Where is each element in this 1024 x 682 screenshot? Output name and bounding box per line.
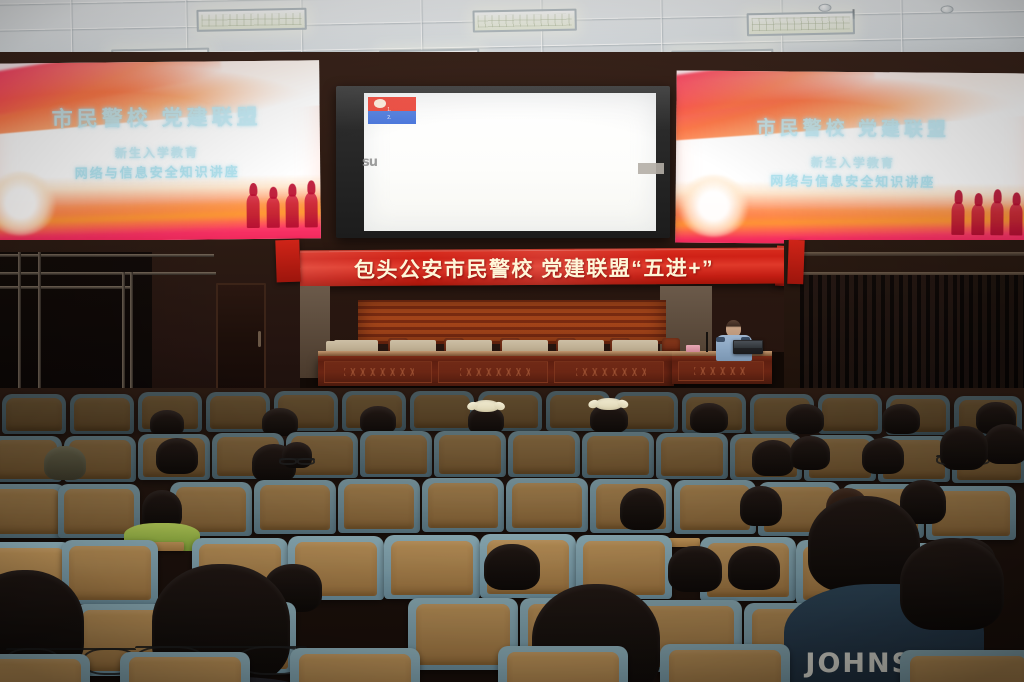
stage-chair-7 [326, 341, 340, 351]
stage-chair-back-6 [662, 338, 680, 351]
wall-banner-right [787, 240, 805, 285]
attendee [150, 410, 184, 436]
seat[interactable] [360, 431, 432, 477]
wall-frame-rail [0, 254, 214, 257]
smoke-detector-icon [818, 4, 831, 12]
hair-bow [595, 398, 622, 410]
led-subtitle-2-right: 网络与信息安全知识讲座 [676, 169, 1024, 191]
seat[interactable] [2, 394, 66, 434]
led-subtitle-2-left: 网络与信息安全知识讲座 [0, 160, 320, 182]
side-door[interactable] [216, 283, 266, 395]
led-officer-silhouette [971, 204, 984, 235]
attendee [142, 490, 182, 530]
stage-chair-6 [612, 340, 658, 351]
seat[interactable] [206, 392, 270, 432]
attendee [752, 440, 794, 476]
seat[interactable] [0, 654, 90, 682]
seat[interactable] [338, 479, 420, 533]
seat[interactable] [900, 650, 1024, 682]
stage-chair-4 [502, 340, 548, 351]
attendee [984, 424, 1024, 464]
sprinkler-icon [853, 9, 855, 19]
led-officer-silhouette [990, 201, 1003, 235]
desk-item [686, 345, 700, 352]
stage-chair-3 [446, 340, 492, 351]
event-banner: 包头公安市民警校 党建联盟“五进+” [282, 247, 786, 286]
attendee [740, 486, 782, 526]
speaker-epaulette-left [716, 337, 725, 342]
seat[interactable] [70, 394, 134, 434]
attendee [156, 438, 198, 474]
attendee [786, 404, 824, 434]
seat[interactable] [508, 431, 580, 477]
banner-text: 包头公安市民警校 党建联盟“五进+” [354, 251, 714, 283]
attendee [728, 546, 780, 590]
attendee-with-glasses [940, 426, 988, 468]
attendee [44, 446, 86, 480]
seat[interactable] [660, 644, 790, 682]
glasses-icon [279, 458, 314, 462]
attendee-foreground [900, 538, 1004, 630]
attendee [360, 406, 396, 434]
auditorium-scene: 市民警校 党建联盟 新生入学教育 网络与信息安全知识讲座 市民警校 党建联盟 新… [0, 0, 1024, 682]
seat[interactable] [434, 431, 506, 477]
projector-edge-bar [638, 163, 664, 174]
ceiling-light-panel [747, 11, 855, 36]
led-title-right: 市民警校 党建联盟 [676, 112, 1024, 142]
ceiling-light-panel [472, 9, 576, 33]
stage-chair-1 [334, 340, 378, 351]
attendee [668, 546, 722, 592]
head-table [318, 356, 674, 386]
seat[interactable] [422, 478, 504, 532]
led-officer-silhouette [1009, 203, 1022, 235]
wall-frame-rail [0, 272, 216, 275]
wall-banner-left [275, 240, 300, 283]
attendee [882, 404, 920, 434]
seat[interactable] [410, 391, 474, 431]
seat[interactable] [120, 652, 250, 682]
attendee-with-glasses [282, 442, 312, 468]
seat[interactable] [506, 478, 588, 532]
led-officer-silhouette [285, 195, 298, 228]
ceiling-light-panel [196, 8, 306, 32]
attendee [590, 404, 628, 433]
led-officer-silhouette [951, 202, 964, 235]
attendee [790, 436, 830, 470]
seat[interactable] [254, 480, 336, 534]
seat[interactable] [818, 394, 882, 434]
led-officer-silhouette [266, 197, 279, 228]
stage-chair-2 [390, 340, 436, 351]
led-officer-silhouette [246, 194, 259, 228]
seat[interactable] [0, 484, 66, 538]
presentation-badge: 1. 2. [368, 97, 416, 124]
seat[interactable] [384, 535, 480, 599]
seat[interactable] [582, 432, 654, 478]
attendee [468, 406, 504, 434]
badge-line-1: 1. [387, 107, 391, 113]
microphone-stand-icon [706, 332, 708, 352]
attendee [690, 403, 728, 433]
projector-watermark: su [362, 155, 377, 170]
led-officer-silhouette [304, 193, 317, 228]
led-subtitle-1-left: 新生入学教育 [0, 142, 320, 162]
projection-screen[interactable]: 1. 2. su [364, 93, 656, 231]
led-screen-right: 市民警校 党建联盟 新生入学教育 网络与信息安全知识讲座 [675, 70, 1024, 245]
seat[interactable] [290, 648, 420, 682]
speaker-laptop [733, 340, 763, 354]
door-handle-icon[interactable] [258, 331, 261, 347]
attendee [862, 438, 904, 474]
led-screen-left: 市民警校 党建联盟 新生入学教育 网络与信息安全知识讲座 [0, 60, 321, 241]
stage-chair-5 [558, 340, 604, 351]
audience-seating-area: JOHNSON [0, 388, 1024, 682]
curtain-rail [800, 252, 1024, 256]
laptop-screen [734, 341, 762, 348]
badge-circle-icon [374, 99, 386, 108]
led-title-left: 市民警校 党建联盟 [0, 100, 320, 133]
seat[interactable] [656, 433, 728, 479]
seat[interactable] [498, 646, 628, 682]
attendee [620, 488, 664, 530]
hair-bow [473, 400, 499, 411]
badge-line-2: 2. [387, 115, 391, 121]
